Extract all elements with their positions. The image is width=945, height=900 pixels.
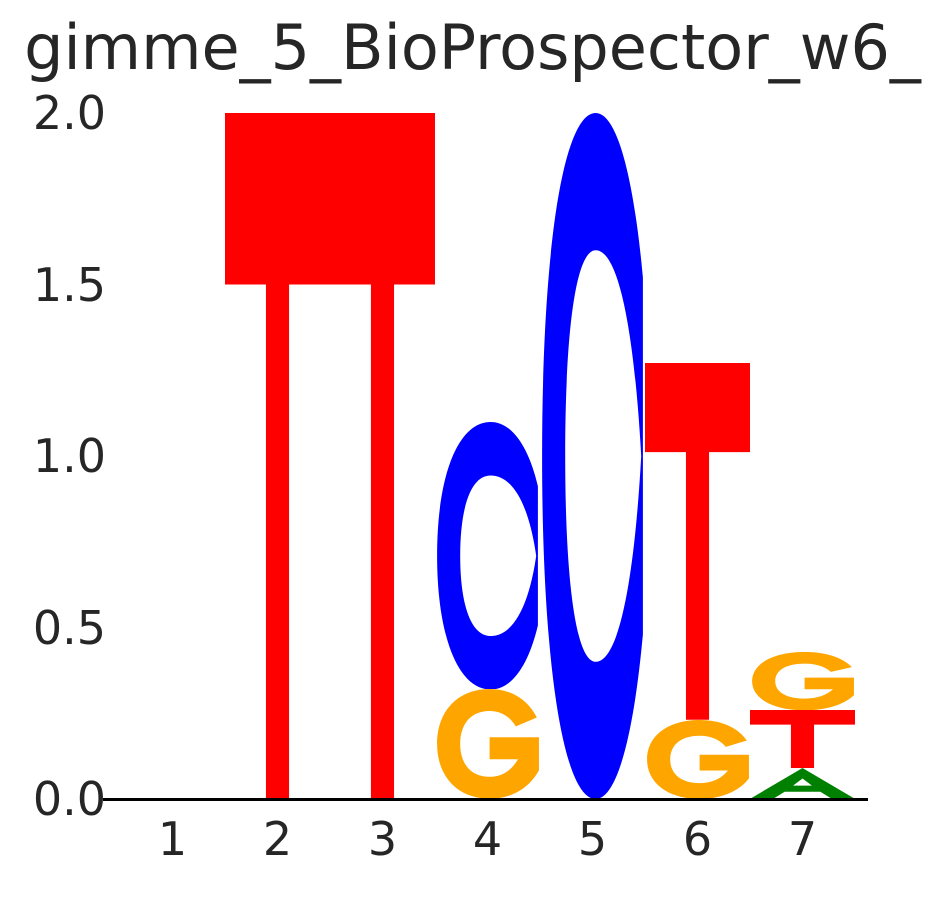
logo-letter-t [225,113,330,799]
y-axis-tick-label: 2.0 [33,86,106,140]
figure-title: gimme_5_BioProspector_w6_ [0,0,945,95]
logo-letter-g [645,720,750,799]
x-axis-tick-label: 3 [330,812,435,866]
logo-column [225,113,330,799]
logo-letter-c [540,113,645,799]
logo-letter-t [750,710,855,768]
logo-column [435,113,540,799]
logo-stack [435,422,540,799]
x-axis-tick-label: 6 [645,812,750,866]
x-axis-tick-label: 7 [750,812,855,866]
x-axis-tick-label: 4 [435,812,540,866]
logo-column [645,113,750,799]
logo-letter-t [330,113,435,799]
logo-letter-a [750,768,855,799]
y-axis-tick-label: 1.0 [33,429,106,483]
logo-stack [330,113,435,799]
logo-stack [750,652,855,799]
y-axis-tick-label: 0.0 [33,772,106,826]
x-axis-tick-label: 1 [120,812,225,866]
logo-stack [540,113,645,799]
y-axis-tick-label: 1.5 [33,258,106,312]
logo-letter-c [435,422,540,690]
plot-area: 0.00.51.01.52.0 [120,113,855,799]
y-axis-tick-label: 0.5 [33,601,106,655]
x-axis-tick-label: 5 [540,812,645,866]
x-axis-tick-label: 2 [225,812,330,866]
sequence-logo-figure: gimme_5_BioProspector_w6_ 0.00.51.01.52.… [0,0,945,900]
logo-stack [225,113,330,799]
logo-column [540,113,645,799]
logo-letter-t [645,363,750,720]
logo-column [330,113,435,799]
logo-column [750,113,855,799]
x-axis-line [103,798,868,801]
logo-letter-g [435,689,540,799]
logo-column [120,113,225,799]
logo-stack [645,363,750,799]
logo-letter-g [750,652,855,710]
